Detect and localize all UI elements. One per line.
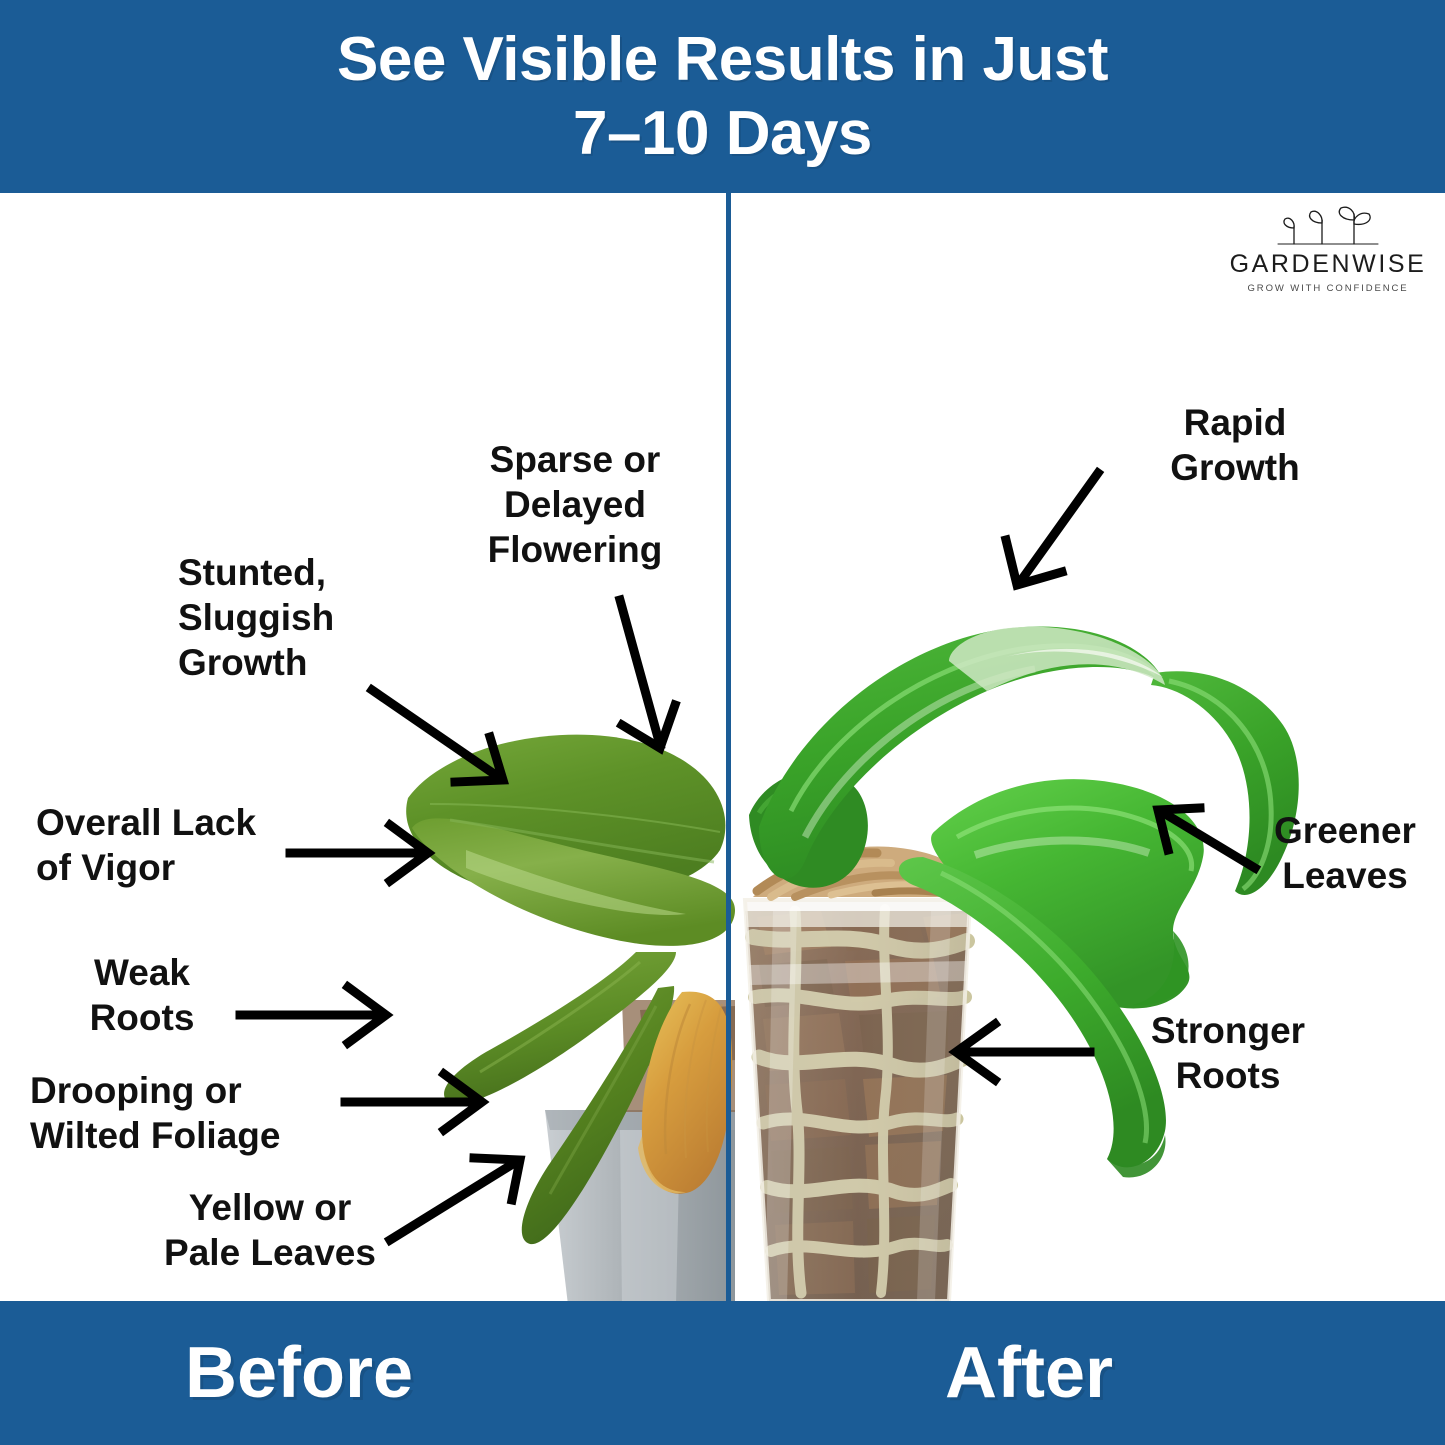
page-title: See Visible Results in Just 7–10 Days bbox=[337, 23, 1108, 169]
footer-label-after: After bbox=[945, 1329, 1113, 1417]
callout-drooping-or-wilted-foliage: Drooping or Wilted Foliage bbox=[30, 1068, 350, 1158]
header-bar: See Visible Results in Just 7–10 Days bbox=[0, 0, 1445, 193]
logo-wordmark: GARDENWISE bbox=[1228, 252, 1428, 277]
logo-tagline: GROW WITH CONFIDENCE bbox=[1228, 284, 1428, 294]
before-after-infographic: See Visible Results in Just 7–10 Days bbox=[0, 0, 1445, 1445]
callout-overall-lack-of-vigor: Overall Lack of Vigor bbox=[36, 800, 336, 890]
footer-bar: Before After bbox=[0, 1301, 1445, 1445]
three-seedlings-icon bbox=[1272, 204, 1384, 250]
callout-stunted-sluggish-growth: Stunted, Sluggish Growth bbox=[178, 550, 438, 685]
callout-sparse-or-delayed-flowering: Sparse or Delayed Flowering bbox=[455, 437, 695, 572]
footer-label-before: Before bbox=[185, 1329, 413, 1417]
brand-logo: GARDENWISE GROW WITH CONFIDENCE bbox=[1228, 204, 1428, 294]
panel-divider bbox=[726, 193, 731, 1301]
callout-weak-roots: Weak Roots bbox=[62, 950, 222, 1040]
callout-rapid-growth: Rapid Growth bbox=[1120, 400, 1350, 490]
callout-yellow-or-pale-leaves: Yellow or Pale Leaves bbox=[140, 1185, 400, 1275]
callout-stronger-roots: Stronger Roots bbox=[1128, 1008, 1328, 1098]
callout-greener-leaves: Greener Leaves bbox=[1245, 808, 1445, 898]
